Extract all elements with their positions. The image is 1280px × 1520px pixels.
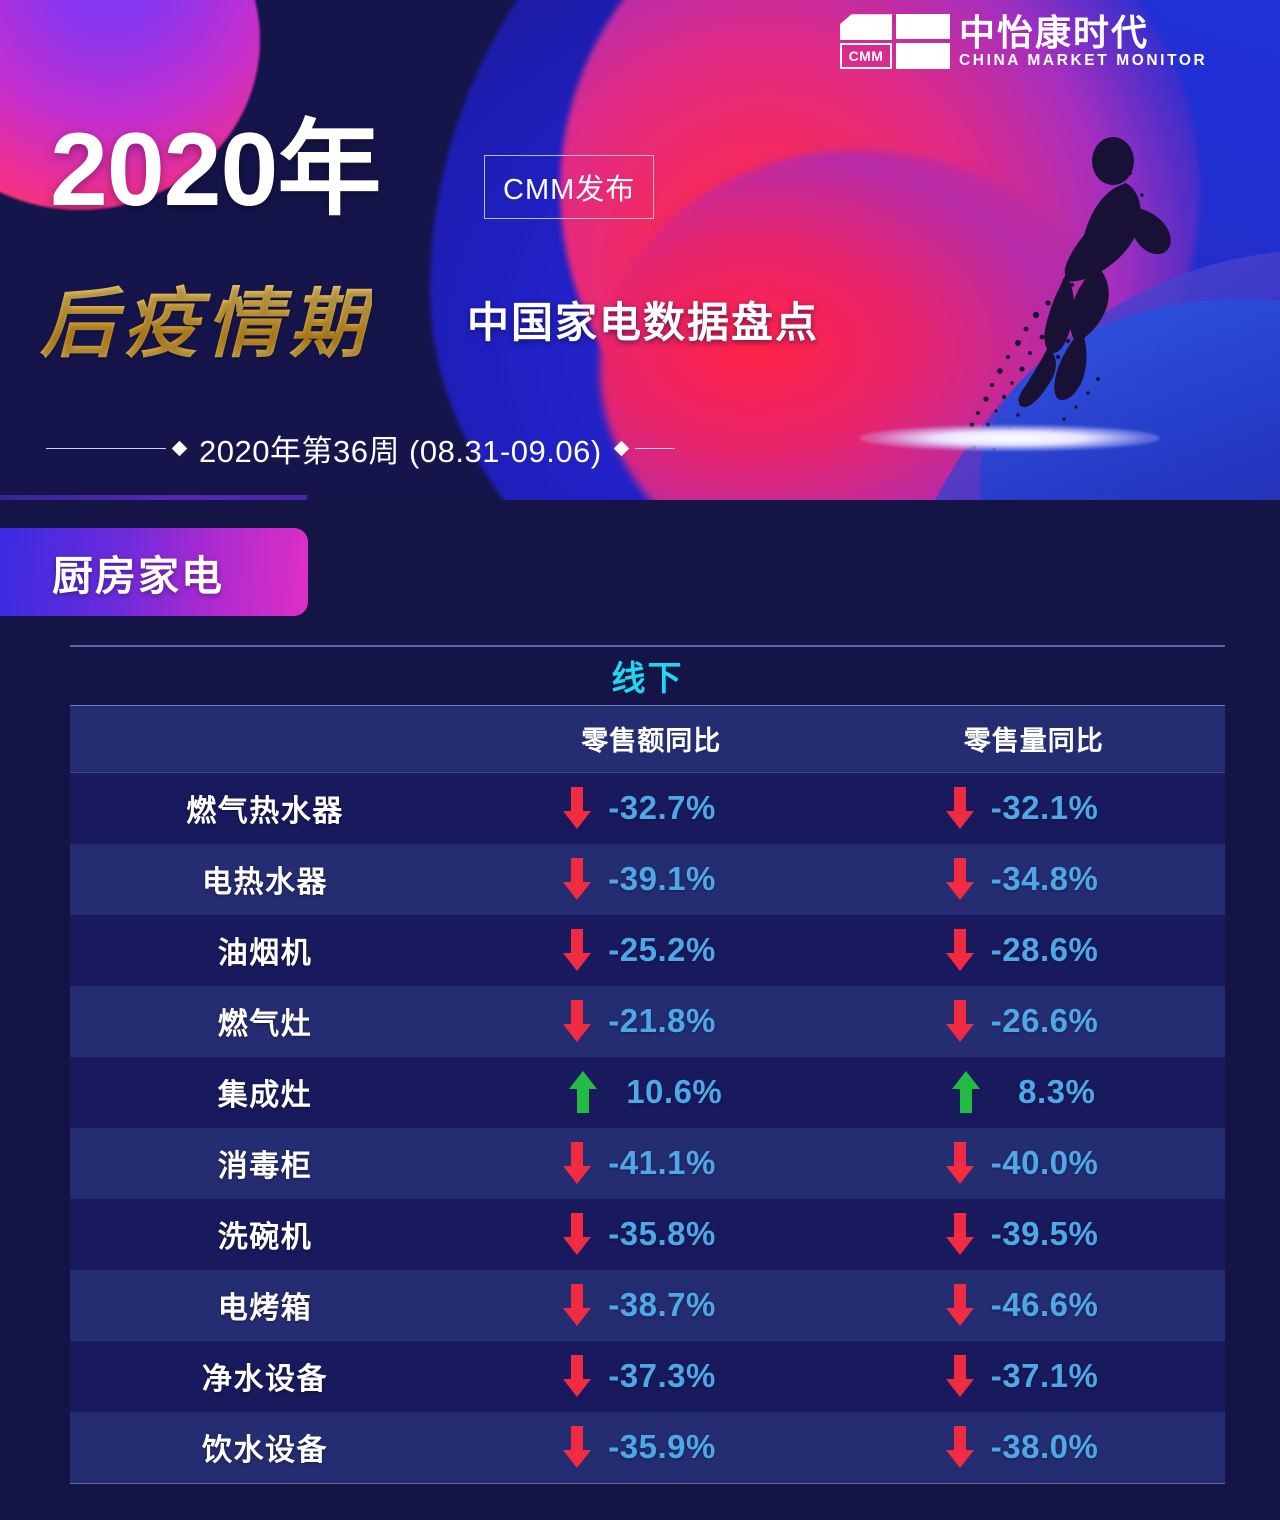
cell-retail-amount: -35.8% <box>460 1211 843 1257</box>
category-badge: 厨房家电 <box>0 528 308 616</box>
logo-cmm-text: CMM <box>842 45 890 67</box>
cell-retail-volume: -40.0% <box>843 1140 1226 1186</box>
cmm-logo: CMM 中怡康时代 CHINA MARKET MONITOR <box>840 14 1207 70</box>
publisher-badge: CMM发布 <box>484 155 654 219</box>
row-category-name: 饮水设备 <box>70 1425 460 1469</box>
arrow-down-icon <box>945 1140 975 1186</box>
period-text: 2020年第36周 (08.31-09.06) <box>193 426 608 471</box>
cell-retail-amount: -41.1% <box>460 1140 843 1186</box>
cell-retail-amount: -21.8% <box>460 998 843 1044</box>
value-retail-amount: -25.2% <box>608 931 740 969</box>
arrow-down-icon <box>562 856 592 902</box>
arrow-down-icon <box>562 998 592 1044</box>
table-row: 洗碗机-35.8%-39.5% <box>70 1199 1225 1270</box>
cell-retail-volume: -26.6% <box>843 998 1226 1044</box>
cell-retail-volume: -39.5% <box>843 1211 1226 1257</box>
table-top-rule <box>70 645 1225 647</box>
table-row: 电烤箱-38.7%-46.6% <box>70 1270 1225 1341</box>
value-retail-volume: -46.6% <box>991 1286 1123 1324</box>
category-badge-label: 厨房家电 <box>52 542 224 602</box>
cell-retail-volume: -38.0% <box>843 1424 1226 1470</box>
row-category-name: 电热水器 <box>70 857 460 901</box>
cell-retail-volume: -37.1% <box>843 1353 1226 1399</box>
cell-retail-amount: -25.2% <box>460 927 843 973</box>
runner-particle-icon <box>930 125 1210 455</box>
row-category-name: 燃气灶 <box>70 999 460 1043</box>
cell-retail-volume: -34.8% <box>843 856 1226 902</box>
column-header-retail-volume: 零售量同比 <box>843 719 1226 758</box>
arrow-down-icon <box>945 856 975 902</box>
data-table: 线下 零售额同比 零售量同比 燃气热水器-32.7%-32.1%电热水器-39.… <box>70 645 1225 1484</box>
page-title-year: 2020年 <box>50 118 380 222</box>
cell-retail-volume: 8.3% <box>843 1069 1226 1115</box>
arrow-down-icon <box>945 927 975 973</box>
row-category-name: 消毒柜 <box>70 1141 460 1185</box>
cell-retail-amount: -37.3% <box>460 1353 843 1399</box>
value-retail-volume: -34.8% <box>991 860 1123 898</box>
table-row: 油烟机-25.2%-28.6% <box>70 915 1225 986</box>
channel-header-row: 线下 <box>70 647 1225 705</box>
arrow-down-icon <box>945 1424 975 1470</box>
value-retail-amount: -38.7% <box>608 1286 740 1324</box>
value-retail-amount: -32.7% <box>608 789 740 827</box>
table-row: 集成灶10.6%8.3% <box>70 1057 1225 1128</box>
value-retail-volume: -26.6% <box>991 1002 1123 1040</box>
cell-retail-amount: 10.6% <box>460 1069 843 1115</box>
cell-retail-amount: -38.7% <box>460 1282 843 1328</box>
arrow-down-icon <box>562 1353 592 1399</box>
purple-diagonal-band <box>0 495 307 500</box>
value-retail-volume: -28.6% <box>991 931 1123 969</box>
gold-calligraphy-title: 后疫情期 <box>40 262 372 372</box>
value-retail-volume: 8.3% <box>997 1073 1117 1111</box>
logo-name-cn: 中怡康时代 <box>959 14 1207 52</box>
table-row: 燃气灶-21.8%-26.6% <box>70 986 1225 1057</box>
arrow-down-icon <box>945 1211 975 1257</box>
value-retail-amount: -39.1% <box>608 860 740 898</box>
value-retail-amount: -35.8% <box>608 1215 740 1253</box>
table-row: 饮水设备-35.9%-38.0% <box>70 1412 1225 1483</box>
cell-retail-volume: -46.6% <box>843 1282 1226 1328</box>
row-category-name: 净水设备 <box>70 1354 460 1398</box>
logo-name-en: CHINA MARKET MONITOR <box>959 52 1207 71</box>
arrow-down-icon <box>562 1211 592 1257</box>
table-body: 燃气热水器-32.7%-32.1%电热水器-39.1%-34.8%油烟机-25.… <box>70 773 1225 1483</box>
value-retail-volume: -40.0% <box>991 1144 1123 1182</box>
cell-retail-amount: -32.7% <box>460 785 843 831</box>
arrow-down-icon <box>945 998 975 1044</box>
arrow-down-icon <box>562 785 592 831</box>
dateline-rule-right <box>635 448 675 449</box>
value-retail-volume: -32.1% <box>991 789 1123 827</box>
channel-label: 线下 <box>612 651 684 700</box>
arrow-down-icon <box>945 785 975 831</box>
arrow-down-icon <box>562 1282 592 1328</box>
logo-text-block: 中怡康时代 CHINA MARKET MONITOR <box>959 14 1207 70</box>
page-subtitle: 中国家电数据盘点 <box>467 289 819 350</box>
cell-retail-amount: -39.1% <box>460 856 843 902</box>
arrow-up-icon <box>568 1069 598 1115</box>
table-row: 消毒柜-41.1%-40.0% <box>70 1128 1225 1199</box>
row-category-name: 电烤箱 <box>70 1283 460 1327</box>
row-category-name: 油烟机 <box>70 928 460 972</box>
column-header-retail-amount: 零售额同比 <box>460 719 843 758</box>
value-retail-amount: -37.3% <box>608 1357 740 1395</box>
ground-glow-ellipse <box>860 425 1160 451</box>
arrow-down-icon <box>562 927 592 973</box>
infographic-page: CMM 中怡康时代 CHINA MARKET MONITOR 2020年 CMM… <box>0 0 1280 1520</box>
arrow-up-icon <box>951 1069 981 1115</box>
value-retail-volume: -39.5% <box>991 1215 1123 1253</box>
logo-shape-bottom-right <box>896 43 950 69</box>
logo-shape-top-right <box>896 14 950 39</box>
arrow-down-icon <box>562 1424 592 1470</box>
cell-retail-volume: -28.6% <box>843 927 1226 973</box>
row-category-name: 集成灶 <box>70 1070 460 1114</box>
cmm-logo-mark-icon: CMM <box>840 14 950 70</box>
cell-retail-amount: -35.9% <box>460 1424 843 1470</box>
value-retail-amount: 10.6% <box>614 1073 734 1111</box>
table-bottom-rule <box>70 1483 1225 1485</box>
table-row: 燃气热水器-32.7%-32.1% <box>70 773 1225 844</box>
row-category-name: 洗碗机 <box>70 1212 460 1256</box>
value-retail-amount: -41.1% <box>608 1144 740 1182</box>
dateline-rule-left <box>46 448 166 449</box>
arrow-down-icon <box>562 1140 592 1186</box>
value-retail-volume: -37.1% <box>991 1357 1123 1395</box>
cell-retail-volume: -32.1% <box>843 785 1226 831</box>
table-column-header-row: 零售额同比 零售量同比 <box>70 705 1225 773</box>
value-retail-amount: -21.8% <box>608 1002 740 1040</box>
arrow-down-icon <box>945 1353 975 1399</box>
logo-shape-top-left <box>840 14 892 40</box>
value-retail-volume: -38.0% <box>991 1428 1123 1466</box>
table-row: 电热水器-39.1%-34.8% <box>70 844 1225 915</box>
diamond-icon-right <box>613 440 629 456</box>
value-retail-amount: -35.9% <box>608 1428 740 1466</box>
arrow-down-icon <box>945 1282 975 1328</box>
table-row: 净水设备-37.3%-37.1% <box>70 1341 1225 1412</box>
row-category-name: 燃气热水器 <box>70 786 460 830</box>
diamond-icon-left <box>172 440 188 456</box>
logo-badge-cmm: CMM <box>840 43 892 69</box>
period-dateline: 2020年第36周 (08.31-09.06) <box>46 425 736 471</box>
